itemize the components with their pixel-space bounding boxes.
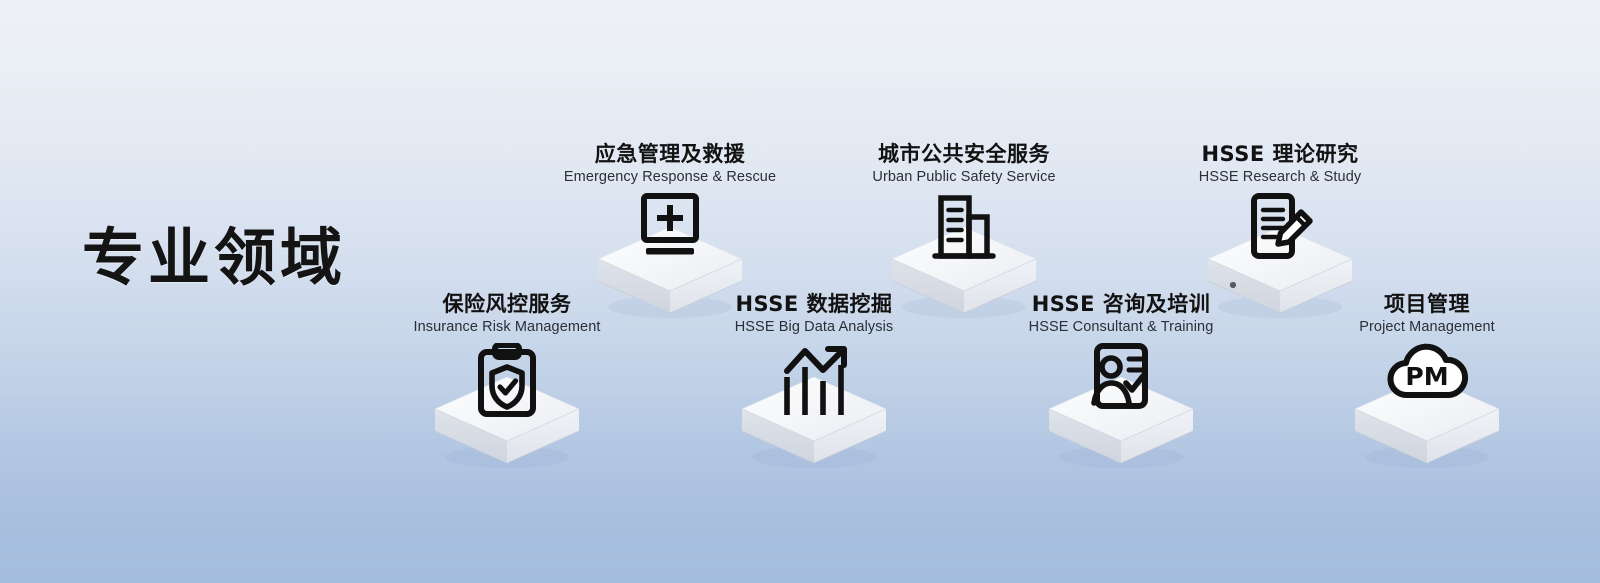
service-item-title-en: Urban Public Safety Service xyxy=(834,169,1094,185)
service-item-labels: 项目管理 Project Management xyxy=(1297,292,1557,335)
medical-monitor-plus-icon xyxy=(639,193,701,265)
service-item-labels: 保险风控服务 Insurance Risk Management xyxy=(377,292,637,335)
clipboard-shield-check-icon xyxy=(474,343,540,423)
service-item-title-cn: 保险风控服务 xyxy=(377,292,637,316)
service-item-title-en: Emergency Response & Rescue xyxy=(540,169,800,185)
service-item-insurance-risk-management[interactable]: 保险风控服务 Insurance Risk Management xyxy=(377,292,637,468)
id-card-person-check-icon xyxy=(1085,343,1157,415)
city-buildings-icon xyxy=(931,193,997,265)
service-item-title-en: HSSE Big Data Analysis xyxy=(684,319,944,335)
service-item-visual xyxy=(991,343,1251,468)
document-pencil-icon xyxy=(1244,193,1316,269)
service-item-labels: HSSE 咨询及培训 HSSE Consultant & Training xyxy=(991,292,1251,335)
service-item-title-en: HSSE Research & Study xyxy=(1150,169,1410,185)
service-item-title-en: Insurance Risk Management xyxy=(377,319,637,335)
bar-chart-trend-arrow-icon xyxy=(778,343,850,419)
service-item-labels: HSSE 数据挖掘 HSSE Big Data Analysis xyxy=(684,292,944,335)
service-item-labels: HSSE 理论研究 HSSE Research & Study xyxy=(1150,142,1410,185)
service-item-title-cn: 城市公共安全服务 xyxy=(834,142,1094,166)
service-item-hsse-consultant-training[interactable]: HSSE 咨询及培训 HSSE Consultant & Training xyxy=(991,292,1251,468)
service-item-visual: PM xyxy=(1297,343,1557,468)
service-item-visual xyxy=(377,343,637,468)
service-item-project-management[interactable]: 项目管理 Project Management xyxy=(1297,292,1557,468)
svg-text:PM: PM xyxy=(1405,362,1448,391)
service-item-title-en: HSSE Consultant & Training xyxy=(991,319,1251,335)
service-item-title-cn: HSSE 理论研究 xyxy=(1150,142,1410,166)
service-item-visual xyxy=(684,343,944,468)
page-title: 专业领域 xyxy=(82,227,346,289)
service-item-title-en: Project Management xyxy=(1297,319,1557,335)
service-item-labels: 城市公共安全服务 Urban Public Safety Service xyxy=(834,142,1094,185)
cloud-pm-icon: PM xyxy=(1385,343,1469,403)
service-item-title-cn: 应急管理及救援 xyxy=(540,142,800,166)
service-item-title-cn: HSSE 咨询及培训 xyxy=(991,292,1251,316)
service-item-title-cn: HSSE 数据挖掘 xyxy=(684,292,944,316)
service-item-title-cn: 项目管理 xyxy=(1297,292,1557,316)
service-item-labels: 应急管理及救援 Emergency Response & Rescue xyxy=(540,142,800,185)
service-item-hsse-big-data-analysis[interactable]: HSSE 数据挖掘 HSSE Big Data Analysis xyxy=(684,292,944,468)
